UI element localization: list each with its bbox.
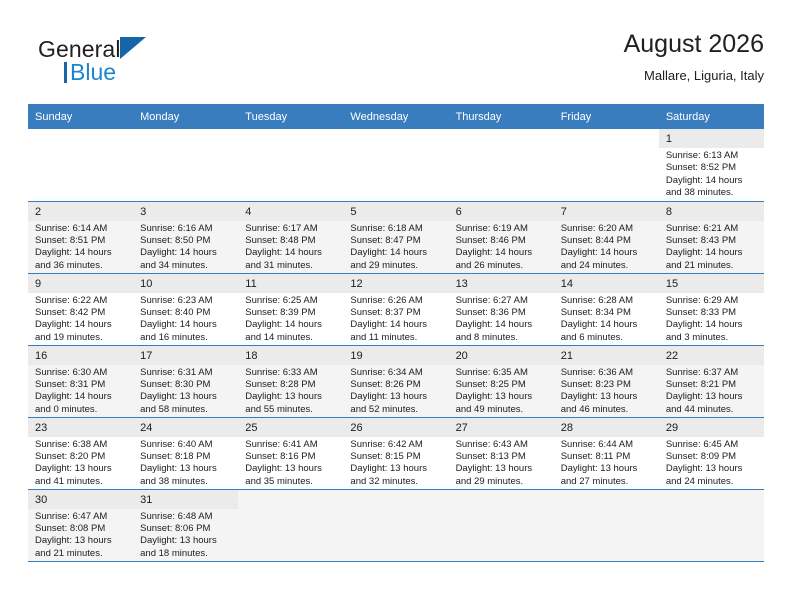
sunrise-text: Sunrise: 6:42 AM [350,439,442,451]
daylight-text-line1: Daylight: 13 hours [456,391,548,403]
calendar-page: General Blue August 2026 Mallare, Liguri… [0,0,792,612]
calendar-day-cell[interactable]: 7Sunrise: 6:20 AMSunset: 8:44 PMDaylight… [554,201,659,273]
calendar-day-cell[interactable]: 8Sunrise: 6:21 AMSunset: 8:43 PMDaylight… [659,201,764,273]
calendar-day-cell[interactable]: 27Sunrise: 6:43 AMSunset: 8:13 PMDayligh… [449,417,554,489]
daylight-text-line2: and 34 minutes. [140,260,232,272]
day-number: 5 [343,202,448,221]
sunset-text: Sunset: 8:18 PM [140,451,232,463]
day-number: 25 [238,418,343,437]
sunset-text: Sunset: 8:44 PM [561,235,653,247]
calendar-day-cell[interactable]: 30Sunrise: 6:47 AMSunset: 8:08 PMDayligh… [28,489,133,561]
calendar-cell-empty [554,129,659,201]
calendar-day-cell[interactable]: 1Sunrise: 6:13 AMSunset: 8:52 PMDaylight… [659,129,764,201]
sunrise-text: Sunrise: 6:35 AM [456,367,548,379]
day-astro-info: Sunrise: 6:35 AMSunset: 8:25 PMDaylight:… [449,365,554,417]
daylight-text-line1: Daylight: 13 hours [140,463,232,475]
sunrise-text: Sunrise: 6:23 AM [140,295,232,307]
day-number: 23 [28,418,133,437]
day-astro-info: Sunrise: 6:42 AMSunset: 8:15 PMDaylight:… [343,437,448,489]
sunset-text: Sunset: 8:52 PM [666,162,758,174]
day-number: 8 [659,202,764,221]
calendar-day-cell[interactable]: 24Sunrise: 6:40 AMSunset: 8:18 PMDayligh… [133,417,238,489]
day-number: 19 [343,346,448,365]
sunrise-text: Sunrise: 6:44 AM [561,439,653,451]
calendar-day-cell[interactable]: 31Sunrise: 6:48 AMSunset: 8:06 PMDayligh… [133,489,238,561]
day-astro-info: Sunrise: 6:23 AMSunset: 8:40 PMDaylight:… [133,293,238,345]
title-block: August 2026 Mallare, Liguria, Italy [624,28,764,86]
daylight-text-line1: Daylight: 13 hours [561,391,653,403]
day-astro-info: Sunrise: 6:29 AMSunset: 8:33 PMDaylight:… [659,293,764,345]
daylight-text-line2: and 18 minutes. [140,548,232,560]
day-number: 26 [343,418,448,437]
weekday-header-wednesday: Wednesday [343,104,448,129]
calendar-cell-empty [554,489,659,561]
sunset-text: Sunset: 8:47 PM [350,235,442,247]
brand-logo[interactable]: General Blue [38,36,238,92]
daylight-text-line1: Daylight: 14 hours [561,319,653,331]
day-astro-info: Sunrise: 6:34 AMSunset: 8:26 PMDaylight:… [343,365,448,417]
day-number: 12 [343,274,448,293]
weekday-header-sunday: Sunday [28,104,133,129]
day-astro-info: Sunrise: 6:25 AMSunset: 8:39 PMDaylight:… [238,293,343,345]
calendar-day-cell[interactable]: 23Sunrise: 6:38 AMSunset: 8:20 PMDayligh… [28,417,133,489]
calendar-header-row: Sunday Monday Tuesday Wednesday Thursday… [28,104,764,129]
calendar-week-row: 1Sunrise: 6:13 AMSunset: 8:52 PMDaylight… [28,129,764,201]
sunrise-text: Sunrise: 6:17 AM [245,223,337,235]
calendar-cell-empty [238,489,343,561]
sunset-text: Sunset: 8:09 PM [666,451,758,463]
brand-triangle-icon [120,37,146,59]
day-astro-info: Sunrise: 6:38 AMSunset: 8:20 PMDaylight:… [28,437,133,489]
daylight-text-line2: and 38 minutes. [140,476,232,488]
sunset-text: Sunset: 8:46 PM [456,235,548,247]
sunset-text: Sunset: 8:26 PM [350,379,442,391]
daylight-text-line1: Daylight: 13 hours [140,535,232,547]
daylight-text-line2: and 11 minutes. [350,332,442,344]
calendar-day-cell[interactable]: 18Sunrise: 6:33 AMSunset: 8:28 PMDayligh… [238,345,343,417]
sunset-text: Sunset: 8:48 PM [245,235,337,247]
sunset-text: Sunset: 8:08 PM [35,523,127,535]
daylight-text-line1: Daylight: 13 hours [245,463,337,475]
sunset-text: Sunset: 8:33 PM [666,307,758,319]
sunrise-text: Sunrise: 6:18 AM [350,223,442,235]
calendar-day-cell[interactable]: 2Sunrise: 6:14 AMSunset: 8:51 PMDaylight… [28,201,133,273]
calendar-day-cell[interactable]: 4Sunrise: 6:17 AMSunset: 8:48 PMDaylight… [238,201,343,273]
daylight-text-line1: Daylight: 14 hours [35,247,127,259]
sunset-text: Sunset: 8:06 PM [140,523,232,535]
sunrise-text: Sunrise: 6:27 AM [456,295,548,307]
calendar-day-cell[interactable]: 19Sunrise: 6:34 AMSunset: 8:26 PMDayligh… [343,345,448,417]
sunrise-text: Sunrise: 6:30 AM [35,367,127,379]
day-astro-info: Sunrise: 6:48 AMSunset: 8:06 PMDaylight:… [133,509,238,561]
sunset-text: Sunset: 8:50 PM [140,235,232,247]
sunset-text: Sunset: 8:37 PM [350,307,442,319]
page-subtitle: Mallare, Liguria, Italy [624,66,764,86]
calendar-day-cell[interactable]: 21Sunrise: 6:36 AMSunset: 8:23 PMDayligh… [554,345,659,417]
day-number: 1 [659,129,764,148]
calendar-week-row: 16Sunrise: 6:30 AMSunset: 8:31 PMDayligh… [28,345,764,417]
day-astro-info: Sunrise: 6:17 AMSunset: 8:48 PMDaylight:… [238,221,343,273]
calendar-cell-empty [28,129,133,201]
calendar-day-cell[interactable]: 29Sunrise: 6:45 AMSunset: 8:09 PMDayligh… [659,417,764,489]
calendar-day-cell[interactable]: 16Sunrise: 6:30 AMSunset: 8:31 PMDayligh… [28,345,133,417]
day-number: 2 [28,202,133,221]
sunrise-text: Sunrise: 6:14 AM [35,223,127,235]
calendar-day-cell[interactable]: 17Sunrise: 6:31 AMSunset: 8:30 PMDayligh… [133,345,238,417]
sunset-text: Sunset: 8:42 PM [35,307,127,319]
sunrise-text: Sunrise: 6:31 AM [140,367,232,379]
day-number: 22 [659,346,764,365]
day-astro-info: Sunrise: 6:13 AMSunset: 8:52 PMDaylight:… [659,148,764,200]
daylight-text-line2: and 21 minutes. [666,260,758,272]
sunrise-text: Sunrise: 6:16 AM [140,223,232,235]
daylight-text-line2: and 27 minutes. [561,476,653,488]
calendar-day-cell[interactable]: 5Sunrise: 6:18 AMSunset: 8:47 PMDaylight… [343,201,448,273]
daylight-text-line1: Daylight: 14 hours [245,319,337,331]
calendar-cell-empty [343,489,448,561]
daylight-text-line2: and 35 minutes. [245,476,337,488]
day-astro-info: Sunrise: 6:26 AMSunset: 8:37 PMDaylight:… [343,293,448,345]
calendar-week-row: 9Sunrise: 6:22 AMSunset: 8:42 PMDaylight… [28,273,764,345]
day-number: 17 [133,346,238,365]
sunrise-text: Sunrise: 6:19 AM [456,223,548,235]
weekday-header-friday: Friday [554,104,659,129]
weekday-header-saturday: Saturday [659,104,764,129]
daylight-text-line2: and 6 minutes. [561,332,653,344]
day-astro-info: Sunrise: 6:31 AMSunset: 8:30 PMDaylight:… [133,365,238,417]
sunrise-text: Sunrise: 6:48 AM [140,511,232,523]
day-number: 4 [238,202,343,221]
calendar-day-cell[interactable]: 6Sunrise: 6:19 AMSunset: 8:46 PMDaylight… [449,201,554,273]
page-title: August 2026 [624,28,764,60]
daylight-text-line2: and 8 minutes. [456,332,548,344]
calendar-cell-empty [133,129,238,201]
calendar-day-cell[interactable]: 3Sunrise: 6:16 AMSunset: 8:50 PMDaylight… [133,201,238,273]
daylight-text-line2: and 32 minutes. [350,476,442,488]
sunrise-text: Sunrise: 6:13 AM [666,150,758,162]
calendar-day-cell[interactable]: 22Sunrise: 6:37 AMSunset: 8:21 PMDayligh… [659,345,764,417]
day-astro-info: Sunrise: 6:47 AMSunset: 8:08 PMDaylight:… [28,509,133,561]
daylight-text-line2: and 21 minutes. [35,548,127,560]
sunrise-text: Sunrise: 6:41 AM [245,439,337,451]
daylight-text-line1: Daylight: 14 hours [666,247,758,259]
sunset-text: Sunset: 8:40 PM [140,307,232,319]
sunrise-text: Sunrise: 6:33 AM [245,367,337,379]
day-astro-info: Sunrise: 6:27 AMSunset: 8:36 PMDaylight:… [449,293,554,345]
day-number: 11 [238,274,343,293]
day-number: 20 [449,346,554,365]
daylight-text-line1: Daylight: 14 hours [245,247,337,259]
daylight-text-line2: and 38 minutes. [666,187,758,199]
daylight-text-line2: and 52 minutes. [350,404,442,416]
day-number: 21 [554,346,659,365]
day-number: 30 [28,490,133,509]
daylight-text-line2: and 24 minutes. [561,260,653,272]
day-number: 16 [28,346,133,365]
sunset-text: Sunset: 8:28 PM [245,379,337,391]
calendar-week-row: 30Sunrise: 6:47 AMSunset: 8:08 PMDayligh… [28,489,764,561]
daylight-text-line1: Daylight: 13 hours [456,463,548,475]
sunrise-text: Sunrise: 6:38 AM [35,439,127,451]
sunrise-text: Sunrise: 6:36 AM [561,367,653,379]
day-astro-info: Sunrise: 6:14 AMSunset: 8:51 PMDaylight:… [28,221,133,273]
calendar-cell-empty [659,489,764,561]
day-astro-info: Sunrise: 6:28 AMSunset: 8:34 PMDaylight:… [554,293,659,345]
calendar-day-cell[interactable]: 12Sunrise: 6:26 AMSunset: 8:37 PMDayligh… [343,273,448,345]
daylight-text-line1: Daylight: 13 hours [561,463,653,475]
sunset-text: Sunset: 8:21 PM [666,379,758,391]
day-number: 24 [133,418,238,437]
weekday-header-tuesday: Tuesday [238,104,343,129]
sunrise-text: Sunrise: 6:25 AM [245,295,337,307]
daylight-text-line1: Daylight: 14 hours [35,391,127,403]
sunset-text: Sunset: 8:13 PM [456,451,548,463]
sunrise-text: Sunrise: 6:34 AM [350,367,442,379]
sunrise-text: Sunrise: 6:40 AM [140,439,232,451]
daylight-text-line2: and 19 minutes. [35,332,127,344]
sunrise-text: Sunrise: 6:21 AM [666,223,758,235]
daylight-text-line2: and 31 minutes. [245,260,337,272]
daylight-text-line2: and 55 minutes. [245,404,337,416]
calendar-cell-empty [343,129,448,201]
calendar-week-row: 23Sunrise: 6:38 AMSunset: 8:20 PMDayligh… [28,417,764,489]
sunrise-text: Sunrise: 6:47 AM [35,511,127,523]
daylight-text-line1: Daylight: 14 hours [35,319,127,331]
daylight-text-line1: Daylight: 13 hours [35,463,127,475]
daylight-text-line2: and 36 minutes. [35,260,127,272]
sunset-text: Sunset: 8:30 PM [140,379,232,391]
daylight-text-line2: and 16 minutes. [140,332,232,344]
sunset-text: Sunset: 8:39 PM [245,307,337,319]
day-number: 7 [554,202,659,221]
daylight-text-line1: Daylight: 14 hours [666,319,758,331]
daylight-text-line1: Daylight: 14 hours [140,247,232,259]
sunset-text: Sunset: 8:43 PM [666,235,758,247]
day-astro-info: Sunrise: 6:21 AMSunset: 8:43 PMDaylight:… [659,221,764,273]
day-astro-info: Sunrise: 6:36 AMSunset: 8:23 PMDaylight:… [554,365,659,417]
daylight-text-line1: Daylight: 13 hours [245,391,337,403]
day-astro-info: Sunrise: 6:40 AMSunset: 8:18 PMDaylight:… [133,437,238,489]
daylight-text-line2: and 49 minutes. [456,404,548,416]
day-number: 3 [133,202,238,221]
day-number: 29 [659,418,764,437]
day-astro-info: Sunrise: 6:30 AMSunset: 8:31 PMDaylight:… [28,365,133,417]
calendar-day-cell[interactable]: 26Sunrise: 6:42 AMSunset: 8:15 PMDayligh… [343,417,448,489]
daylight-text-line2: and 29 minutes. [350,260,442,272]
daylight-text-line2: and 44 minutes. [666,404,758,416]
sunset-text: Sunset: 8:25 PM [456,379,548,391]
daylight-text-line1: Daylight: 13 hours [350,391,442,403]
calendar-day-cell[interactable]: 13Sunrise: 6:27 AMSunset: 8:36 PMDayligh… [449,273,554,345]
daylight-text-line1: Daylight: 14 hours [350,319,442,331]
day-number: 28 [554,418,659,437]
daylight-text-line1: Daylight: 13 hours [350,463,442,475]
calendar-day-cell[interactable]: 20Sunrise: 6:35 AMSunset: 8:25 PMDayligh… [449,345,554,417]
calendar-body: 1Sunrise: 6:13 AMSunset: 8:52 PMDaylight… [28,129,764,561]
daylight-text-line2: and 41 minutes. [35,476,127,488]
sunset-text: Sunset: 8:31 PM [35,379,127,391]
sunset-text: Sunset: 8:20 PM [35,451,127,463]
sunrise-text: Sunrise: 6:37 AM [666,367,758,379]
sunrise-text: Sunrise: 6:45 AM [666,439,758,451]
daylight-text-line2: and 26 minutes. [456,260,548,272]
sunset-text: Sunset: 8:15 PM [350,451,442,463]
sunset-text: Sunset: 8:11 PM [561,451,653,463]
day-number: 31 [133,490,238,509]
sunrise-text: Sunrise: 6:26 AM [350,295,442,307]
daylight-text-line1: Daylight: 13 hours [666,391,758,403]
sunrise-text: Sunrise: 6:43 AM [456,439,548,451]
daylight-text-line1: Daylight: 14 hours [456,319,548,331]
sunrise-text: Sunrise: 6:28 AM [561,295,653,307]
sunrise-text: Sunrise: 6:20 AM [561,223,653,235]
calendar-day-cell[interactable]: 10Sunrise: 6:23 AMSunset: 8:40 PMDayligh… [133,273,238,345]
day-astro-info: Sunrise: 6:37 AMSunset: 8:21 PMDaylight:… [659,365,764,417]
daylight-text-line1: Daylight: 14 hours [561,247,653,259]
day-astro-info: Sunrise: 6:16 AMSunset: 8:50 PMDaylight:… [133,221,238,273]
day-astro-info: Sunrise: 6:43 AMSunset: 8:13 PMDaylight:… [449,437,554,489]
daylight-text-line1: Daylight: 14 hours [666,175,758,187]
daylight-text-line2: and 58 minutes. [140,404,232,416]
day-astro-info: Sunrise: 6:45 AMSunset: 8:09 PMDaylight:… [659,437,764,489]
calendar-week-row: 2Sunrise: 6:14 AMSunset: 8:51 PMDaylight… [28,201,764,273]
calendar-table: Sunday Monday Tuesday Wednesday Thursday… [28,104,764,562]
weekday-header-monday: Monday [133,104,238,129]
daylight-text-line1: Daylight: 14 hours [350,247,442,259]
page-header: General Blue August 2026 Mallare, Liguri… [28,28,764,98]
sunrise-text: Sunrise: 6:29 AM [666,295,758,307]
calendar-day-cell[interactable]: 28Sunrise: 6:44 AMSunset: 8:11 PMDayligh… [554,417,659,489]
sunset-text: Sunset: 8:16 PM [245,451,337,463]
calendar-day-cell[interactable]: 9Sunrise: 6:22 AMSunset: 8:42 PMDaylight… [28,273,133,345]
day-number: 27 [449,418,554,437]
sunrise-text: Sunrise: 6:22 AM [35,295,127,307]
day-number: 6 [449,202,554,221]
calendar-cell-empty [449,489,554,561]
day-number: 18 [238,346,343,365]
calendar-day-cell[interactable]: 11Sunrise: 6:25 AMSunset: 8:39 PMDayligh… [238,273,343,345]
calendar-cell-empty [238,129,343,201]
sunset-text: Sunset: 8:34 PM [561,307,653,319]
day-astro-info: Sunrise: 6:33 AMSunset: 8:28 PMDaylight:… [238,365,343,417]
daylight-text-line2: and 14 minutes. [245,332,337,344]
calendar-cell-empty [449,129,554,201]
daylight-text-line1: Daylight: 14 hours [140,319,232,331]
day-astro-info: Sunrise: 6:22 AMSunset: 8:42 PMDaylight:… [28,293,133,345]
day-number: 14 [554,274,659,293]
daylight-text-line1: Daylight: 13 hours [140,391,232,403]
calendar-day-cell[interactable]: 15Sunrise: 6:29 AMSunset: 8:33 PMDayligh… [659,273,764,345]
day-number: 9 [28,274,133,293]
brand-bar-icon [64,62,67,83]
brand-blue-text: Blue [70,59,116,85]
day-astro-info: Sunrise: 6:41 AMSunset: 8:16 PMDaylight:… [238,437,343,489]
calendar-day-cell[interactable]: 14Sunrise: 6:28 AMSunset: 8:34 PMDayligh… [554,273,659,345]
daylight-text-line2: and 3 minutes. [666,332,758,344]
day-astro-info: Sunrise: 6:20 AMSunset: 8:44 PMDaylight:… [554,221,659,273]
daylight-text-line2: and 24 minutes. [666,476,758,488]
weekday-header-thursday: Thursday [449,104,554,129]
sunset-text: Sunset: 8:51 PM [35,235,127,247]
daylight-text-line2: and 0 minutes. [35,404,127,416]
day-number: 15 [659,274,764,293]
day-number: 13 [449,274,554,293]
day-astro-info: Sunrise: 6:18 AMSunset: 8:47 PMDaylight:… [343,221,448,273]
day-number: 10 [133,274,238,293]
daylight-text-line1: Daylight: 13 hours [35,535,127,547]
daylight-text-line2: and 46 minutes. [561,404,653,416]
daylight-text-line1: Daylight: 13 hours [666,463,758,475]
brand-line-2: Blue [38,59,238,85]
sunset-text: Sunset: 8:36 PM [456,307,548,319]
day-astro-info: Sunrise: 6:19 AMSunset: 8:46 PMDaylight:… [449,221,554,273]
calendar-day-cell[interactable]: 25Sunrise: 6:41 AMSunset: 8:16 PMDayligh… [238,417,343,489]
sunset-text: Sunset: 8:23 PM [561,379,653,391]
daylight-text-line1: Daylight: 14 hours [456,247,548,259]
day-astro-info: Sunrise: 6:44 AMSunset: 8:11 PMDaylight:… [554,437,659,489]
daylight-text-line2: and 29 minutes. [456,476,548,488]
